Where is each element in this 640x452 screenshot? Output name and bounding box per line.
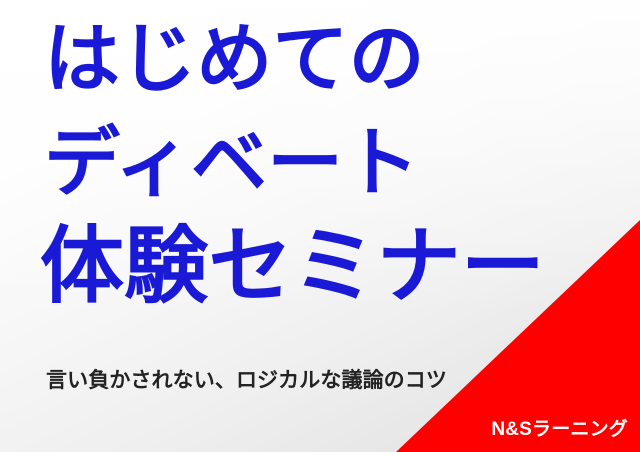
title-slide: はじめての ディベート 体験セミナー 言い負かされない、ロジカルな議論のコツ N… bbox=[0, 0, 640, 452]
page-title: はじめての ディベート 体験セミナー bbox=[40, 16, 600, 308]
title-line-2: ディベート bbox=[44, 126, 600, 202]
title-line-1: はじめての bbox=[44, 16, 600, 98]
brand-name: N&Sラーニング bbox=[491, 414, 628, 441]
subtitle: 言い負かされない、ロジカルな議論のコツ bbox=[46, 364, 447, 394]
title-line-3: 体験セミナー bbox=[40, 224, 600, 308]
